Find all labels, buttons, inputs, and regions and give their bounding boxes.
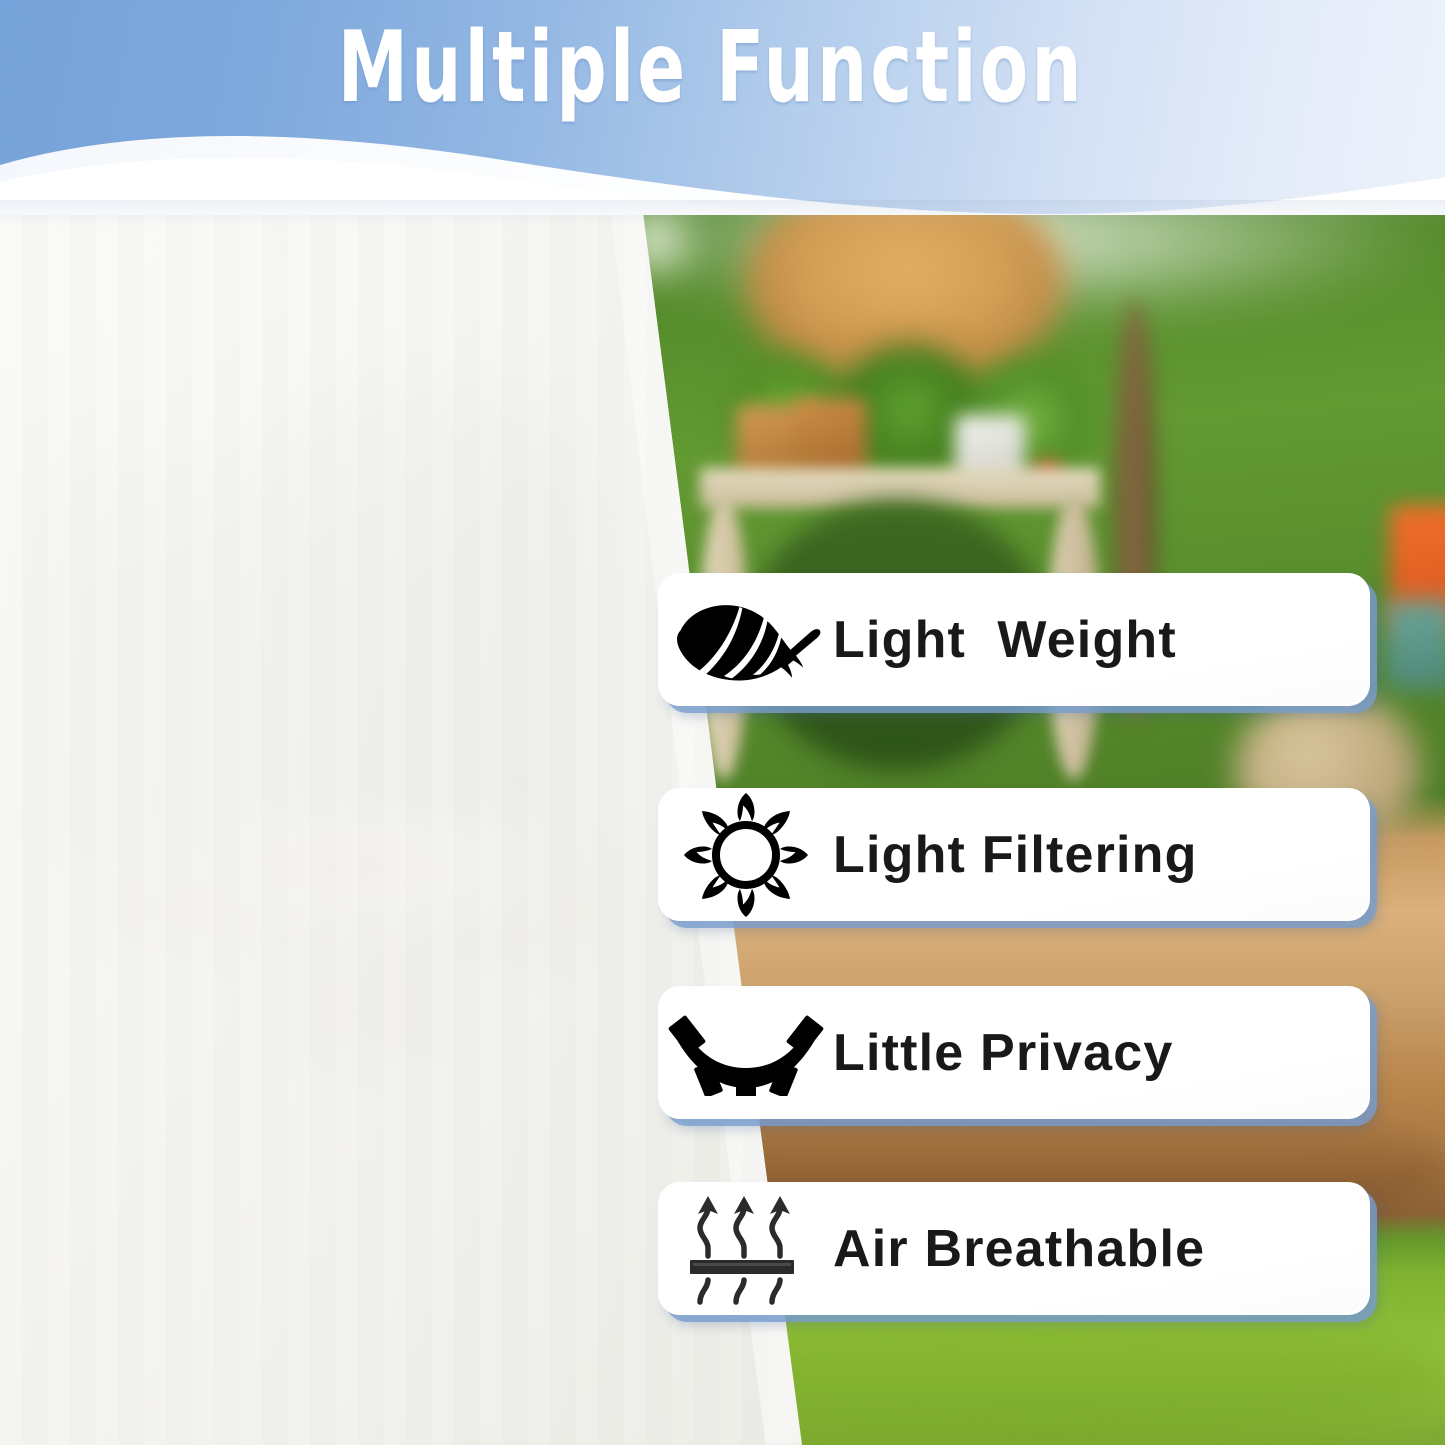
teal-object-blur [1385,600,1445,690]
banner-wave-divider [0,110,1445,215]
feather-icon [658,597,833,683]
feature-badge-little-privacy[interactable]: Little Privacy [658,986,1370,1119]
sun-icon [658,791,833,919]
feather-icon-svg [660,597,832,683]
badge-label: Air Breathable [833,1223,1205,1275]
page-title: Multiple Function [145,18,1301,118]
badge-label: Light Filtering [833,829,1198,881]
badge-label: Light Weight [833,614,1177,666]
feature-badge-light-filtering[interactable]: Light Filtering [658,788,1370,921]
closed-eye-icon-svg [668,1010,824,1096]
airflow-icon-svg [686,1190,806,1308]
product-feature-graphic: Multiple Function [0,0,1445,1445]
airflow-icon [658,1190,833,1308]
feature-badge-air-breathable[interactable]: Air Breathable [658,1182,1370,1315]
header-banner: Multiple Function [0,0,1445,215]
badge-label: Little Privacy [833,1027,1174,1079]
sun-icon-svg [682,791,810,919]
feature-badge-light-weight[interactable]: Light Weight [658,573,1370,706]
closed-eye-icon [658,1010,833,1096]
